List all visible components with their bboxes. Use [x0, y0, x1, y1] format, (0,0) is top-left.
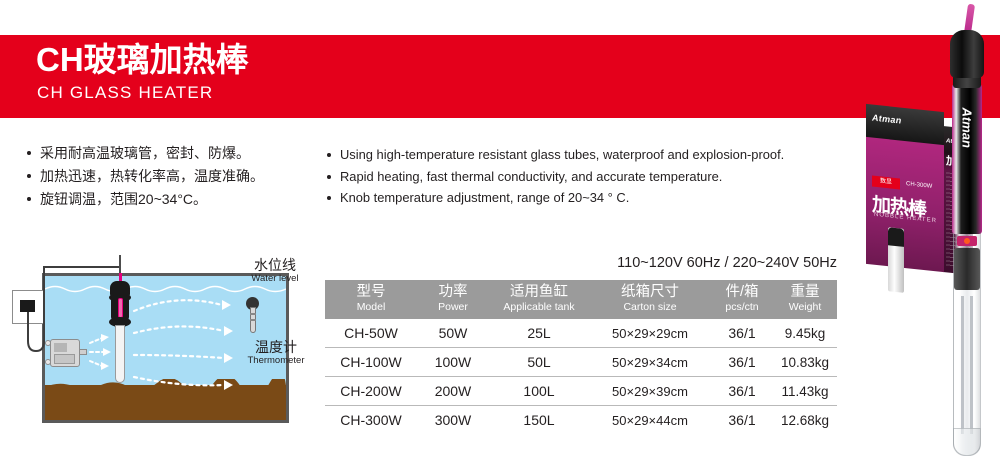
- table-row: CH-300W 300W 150L 50×29×44cm 36/1 12.68k…: [325, 406, 837, 435]
- product-label-band: [952, 84, 982, 234]
- cell-model: CH-100W: [325, 348, 417, 377]
- cell-carton: 50×29×34cm: [589, 348, 711, 377]
- cell-carton: 50×29×44cm: [589, 406, 711, 435]
- product-heating-element: [970, 296, 973, 434]
- column-header-weight: 重量 Weight: [773, 280, 837, 319]
- adapter-plug-icon: [20, 300, 35, 312]
- water-level-label: 水位线 Water level: [230, 257, 320, 285]
- thermometer-band: [250, 319, 256, 321]
- water-level-label-cn: 水位线: [230, 257, 320, 273]
- table-row: CH-100W 100W 50L 50×29×34cm 36/1 10.83kg: [325, 348, 837, 377]
- table-row: CH-50W 50W 25L 50×29×29cm 36/1 9.45kg: [325, 319, 837, 348]
- feature-item: Using high-temperature resistant glass t…: [326, 144, 846, 166]
- cell-power: 200W: [417, 377, 489, 406]
- water-level-label-en: Water level: [230, 273, 320, 285]
- cell-pcs: 36/1: [711, 406, 773, 435]
- cell-weight: 12.68kg: [773, 406, 837, 435]
- cell-carton: 50×29×29cm: [589, 319, 711, 348]
- cell-model: CH-300W: [325, 406, 417, 435]
- heater-product-shot: Atman: [940, 4, 994, 460]
- thermometer-label-cn: 温度计: [226, 339, 326, 355]
- table-row: CH-200W 200W 100L 50×29×39cm 36/1 11.43k…: [325, 377, 837, 406]
- cell-tank: 100L: [489, 377, 589, 406]
- cell-weight: 10.83kg: [773, 348, 837, 377]
- cell-tank: 150L: [489, 406, 589, 435]
- thermometer-label-en: Thermometer: [226, 355, 326, 367]
- feature-item: 加热迅速，热转化率高，温度准确。: [26, 165, 326, 188]
- product-indicator-led: [964, 238, 970, 244]
- cell-carton: 50×29×39cm: [589, 377, 711, 406]
- feature-item: 采用耐高温玻璃管，密封、防爆。: [26, 142, 326, 165]
- page-title-cn: CH玻璃加热棒: [36, 40, 249, 80]
- cell-pcs: 36/1: [711, 348, 773, 377]
- pump-suction-cup: [45, 359, 51, 365]
- feature-item: 旋钮调温，范围20~34°C。: [26, 188, 326, 211]
- cell-model: CH-50W: [325, 319, 417, 348]
- cell-tank: 25L: [489, 319, 589, 348]
- cell-pcs: 36/1: [711, 319, 773, 348]
- feature-list-en: Using high-temperature resistant glass t…: [326, 144, 846, 209]
- column-header-power: 功率 Power: [417, 280, 489, 319]
- product-brand-logo: Atman: [960, 108, 975, 136]
- pump-outlet-nozzle: [79, 349, 87, 355]
- feature-list-cn: 采用耐高温玻璃管，密封、防爆。 加热迅速，热转化率高，温度准确。 旋钮调温，范围…: [26, 142, 326, 211]
- column-header-carton: 纸箱尺寸 Carton size: [589, 280, 711, 319]
- product-tube-end: [953, 428, 981, 456]
- column-header-pcs: 件/箱 pcs/ctn: [711, 280, 773, 319]
- cell-power: 50W: [417, 319, 489, 348]
- feature-item: Knob temperature adjustment, range of 20…: [326, 187, 846, 209]
- page-title-en: CH GLASS HEATER: [37, 82, 213, 104]
- cell-weight: 11.43kg: [773, 377, 837, 406]
- column-header-model: 型号 Model: [325, 280, 417, 319]
- pump-grill-icon: [54, 343, 67, 352]
- heater-glass-tube: [115, 325, 125, 383]
- product-spec-sheet: CH玻璃加热棒 CH GLASS HEATER 采用耐高温玻璃管，密封、防爆。 …: [0, 0, 1000, 468]
- product-photography: Atman 加热棒 Atman 数显 CH-300W 加热棒 NOBBLE HE…: [848, 0, 1000, 468]
- cell-pcs: 36/1: [711, 377, 773, 406]
- thermometer-band: [250, 313, 256, 315]
- retail-box: Atman 加热棒 Atman 数显 CH-300W 加热棒 NOBBLE HE…: [866, 104, 944, 272]
- cell-power: 300W: [417, 406, 489, 435]
- cell-tank: 50L: [489, 348, 589, 377]
- box-model-code: CH-300W: [906, 181, 932, 190]
- product-inner-collar: [954, 248, 980, 290]
- box-feature-tag: 数显: [872, 176, 900, 190]
- box-brand-logo: Atman: [872, 113, 938, 130]
- feature-item: Rapid heating, fast thermal conductivity…: [326, 166, 846, 188]
- table-header-row: 型号 Model 功率 Power 适用鱼缸 Applicable tank 纸…: [325, 280, 837, 319]
- aquarium-diagram: 水位线 Water level 温度计 Thermometer: [12, 255, 312, 440]
- box-product-photo-cap: [888, 227, 904, 247]
- box-front-panel: 数显 CH-300W 加热棒 NOBBLE HEATER: [866, 137, 944, 272]
- cell-weight: 9.45kg: [773, 319, 837, 348]
- pump-suction-cup: [45, 340, 51, 346]
- cell-power: 100W: [417, 348, 489, 377]
- heater-temperature-window: [118, 298, 123, 318]
- column-header-tank: 适用鱼缸 Applicable tank: [489, 280, 589, 319]
- product-heating-element: [961, 296, 964, 434]
- specification-table: 型号 Model 功率 Power 适用鱼缸 Applicable tank 纸…: [325, 280, 837, 434]
- cell-model: CH-200W: [325, 377, 417, 406]
- thermometer-label: 温度计 Thermometer: [226, 339, 326, 367]
- product-cap: [950, 30, 984, 78]
- voltage-spec: 110~120V 60Hz / 220~240V 50Hz: [617, 255, 837, 271]
- pump-lower-body: [54, 354, 75, 364]
- substrate-surface-icon: [45, 379, 286, 391]
